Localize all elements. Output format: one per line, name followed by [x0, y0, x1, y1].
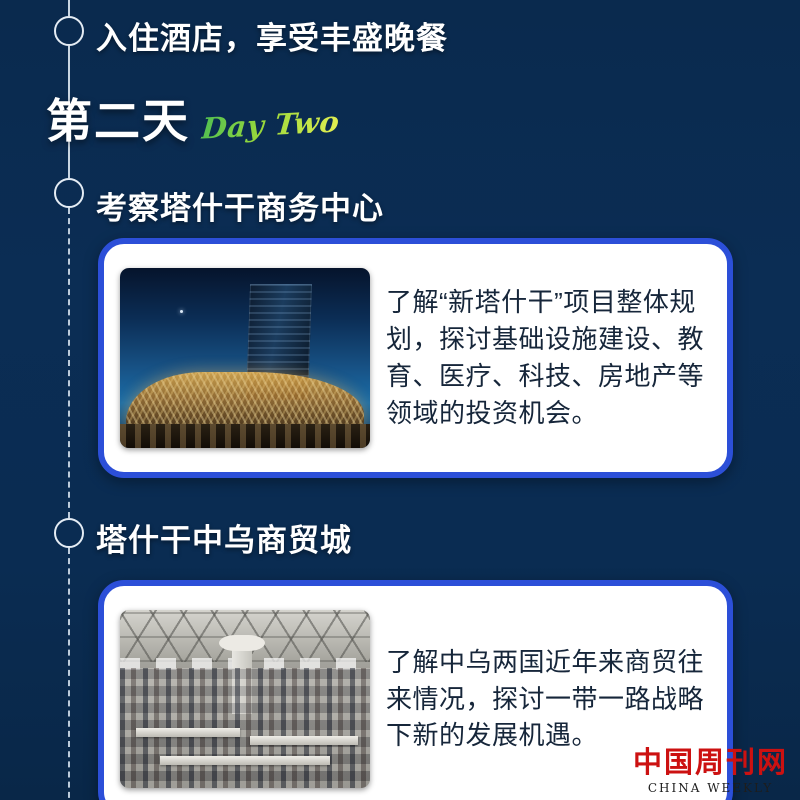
street-level-shape — [120, 424, 370, 448]
section-1-card[interactable]: 了解“新塔什干”项目整体规划，探讨基础设施建设、教育、医疗、科技、房地产等领域的… — [98, 238, 733, 478]
section-2-heading: 塔什干中乌商贸城 — [96, 515, 352, 560]
sky-star-decor — [180, 310, 183, 313]
wavy-lit-canopy-shape — [126, 372, 364, 430]
tashkent-china-uzbek-trade-city-bazaar-photo — [120, 610, 370, 788]
timeline-node-3-circle-icon — [54, 518, 84, 548]
watermark: 中国周刊网 CHINA WEEKLY — [633, 748, 788, 794]
watermark-chinese-text: 中国周刊网 — [633, 748, 788, 777]
day-banner: 第二天 Day Two — [46, 98, 339, 144]
section-1-heading: 考察塔什干商务中心 — [96, 183, 384, 228]
section-1-description: 了解“新塔什干”项目整体规划，探讨基础设施建设、教育、医疗、科技、房地产等领域的… — [370, 284, 711, 432]
day-title-en: Day Two — [200, 104, 341, 145]
market-stall-row — [136, 728, 240, 737]
timeline-line-dashed-segment-2 — [68, 548, 70, 800]
tashkent-business-center-tower-photo — [120, 268, 370, 448]
top-item-title: 入住酒店，享受丰盛晚餐 — [96, 13, 448, 58]
watermark-english-text: CHINA WEEKLY — [633, 782, 788, 794]
infographic-page: 入住酒店，享受丰盛晚餐 第二天 Day Two 考察塔什干商务中心 了解“新塔什… — [0, 0, 800, 800]
day-title-cn: 第二天 — [46, 98, 190, 144]
market-stall-row — [160, 756, 330, 765]
timeline-node-1-circle-icon — [54, 16, 84, 46]
timeline-line-dashed-segment-1 — [68, 208, 70, 518]
market-stall-row — [250, 736, 358, 745]
timeline-line-top-segment — [68, 0, 70, 16]
timeline-node-2-circle-icon — [54, 178, 84, 208]
section-2-description: 了解中乌两国近年来商贸往来情况，探讨一带一路战略下新的发展机遇。 — [370, 644, 711, 755]
